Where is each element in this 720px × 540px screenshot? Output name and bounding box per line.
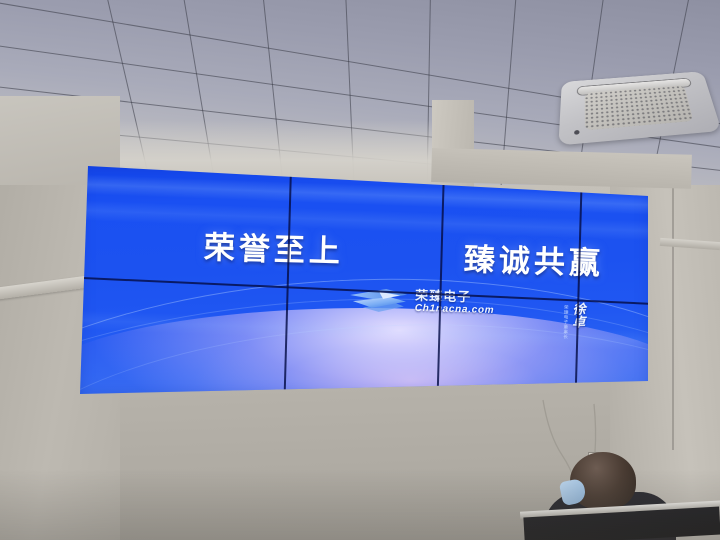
floor-shadow — [0, 470, 720, 540]
photo-scene: 荣誉至上 臻诚共赢 — [0, 0, 720, 540]
